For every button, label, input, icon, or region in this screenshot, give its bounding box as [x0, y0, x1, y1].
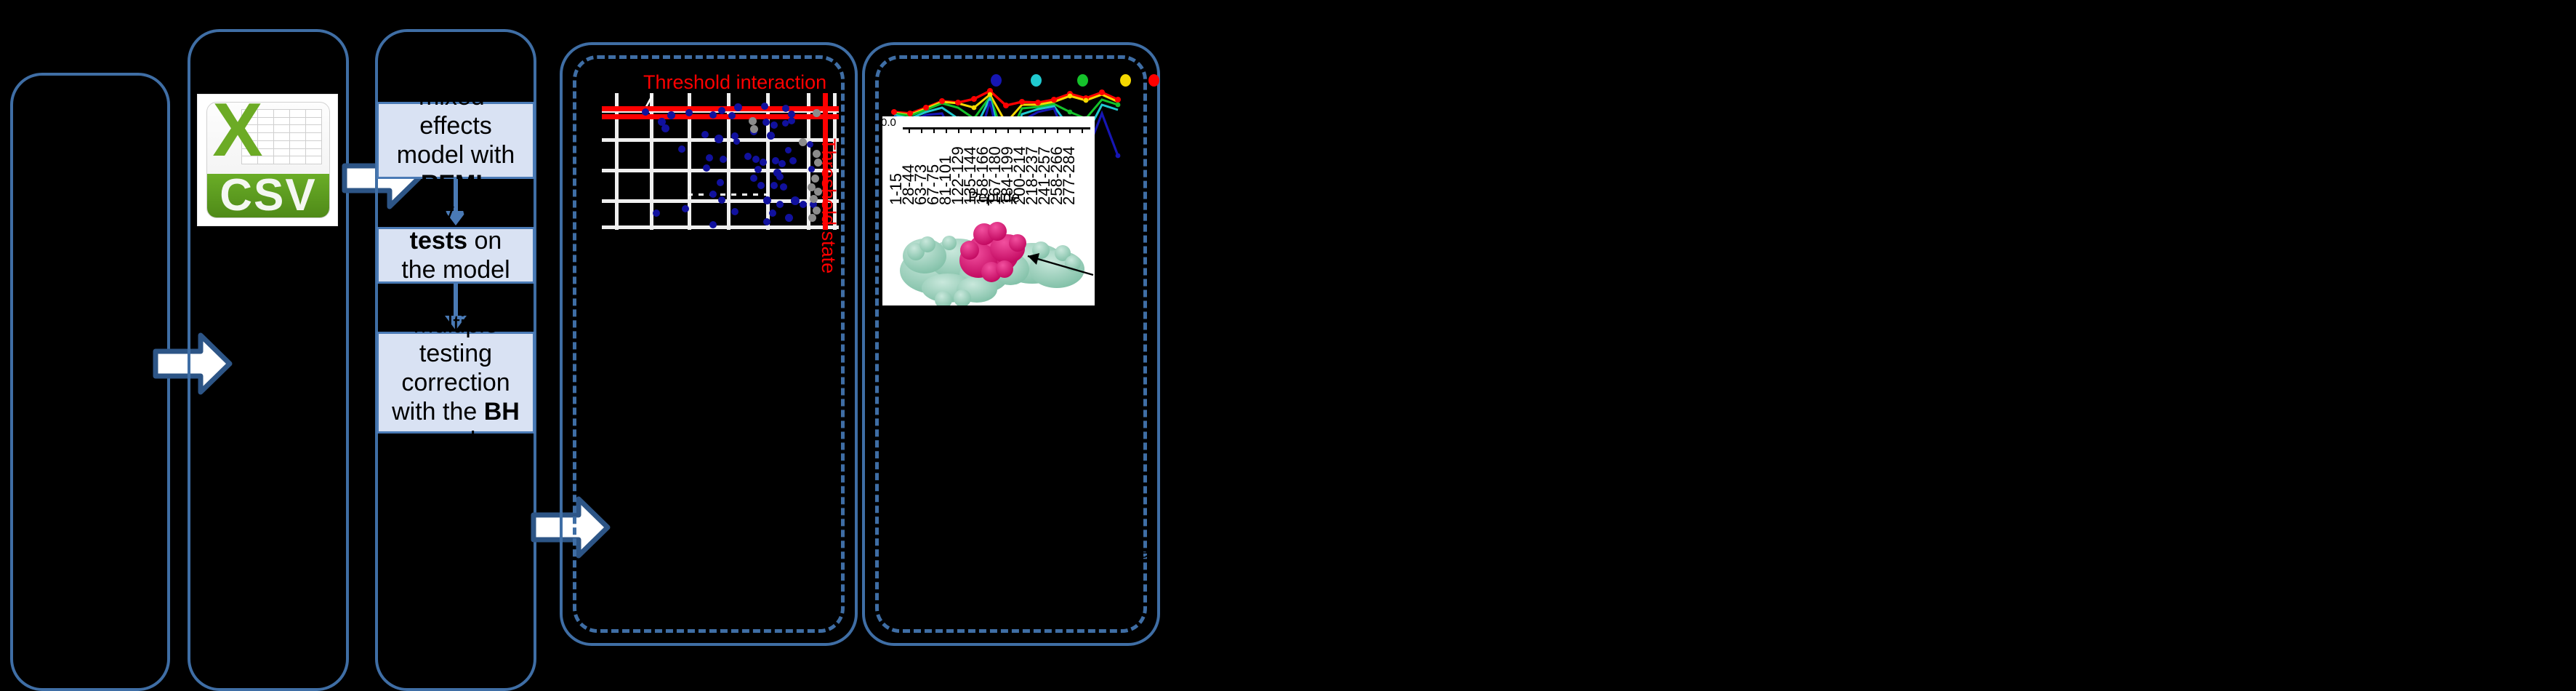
- excel-x-glyph: X: [212, 102, 264, 160]
- x-axis-tick: [970, 127, 972, 133]
- fit-model-line2: effects model with: [397, 112, 515, 169]
- scatter-point: [778, 160, 786, 167]
- box-multiple-testing[interactable]: Multiple testing correction with the BH …: [377, 332, 535, 434]
- mt-line2: correction: [401, 369, 510, 396]
- x-axis-tick: [1007, 127, 1009, 133]
- scatter-point-gray: [750, 125, 758, 133]
- threshold-state-label: Threshold state: [817, 138, 840, 273]
- scatter-point: [703, 164, 710, 172]
- scatter-point-gray: [808, 183, 816, 191]
- x-axis-tick: [921, 127, 922, 133]
- wald-prefix: Apply: [393, 198, 462, 225]
- peptide-structure-card: 0.0 1-15 28-44 63-73 67-75 81-101 122-12…: [882, 116, 1095, 305]
- scatter-point: [685, 109, 693, 116]
- binding-interface-annotation: Binding interface: [1082, 522, 1148, 562]
- scatter-point: [788, 117, 795, 124]
- wald-tail: on: [467, 227, 502, 255]
- scatter-point: [785, 214, 793, 222]
- scatter-point: [701, 131, 709, 138]
- x-axis-tick: [1082, 127, 1083, 133]
- csv-format-label: CSV: [220, 169, 316, 218]
- scatter-point: [776, 173, 784, 180]
- scatter-point: [789, 157, 797, 164]
- x-axis-line: [903, 127, 1090, 129]
- scatter-point: [763, 196, 771, 204]
- x-axis-title: Peptide: [968, 189, 1020, 207]
- legend-dot-red: [1148, 74, 1159, 87]
- scatter-point: [717, 179, 724, 186]
- x-axis-tick: [1032, 127, 1034, 133]
- x-axis-tick: [909, 127, 910, 133]
- scatter-point-gray: [749, 117, 757, 125]
- scatter-point: [715, 135, 723, 143]
- scatter-point: [728, 112, 736, 119]
- scatter-point: [800, 201, 807, 208]
- scatter-point: [709, 111, 717, 119]
- x-axis-tick: [995, 127, 997, 133]
- gridline-h: [602, 169, 839, 172]
- scatter-point-gray: [808, 214, 816, 222]
- scatter-point: [752, 156, 760, 163]
- x-axis-tick: [983, 127, 984, 133]
- scatter-point: [776, 201, 784, 208]
- legend-dot-blue: [991, 74, 1002, 87]
- scatter-point: [642, 108, 649, 116]
- scatter-point: [678, 145, 685, 153]
- x-axis-tick: [933, 127, 935, 133]
- scatter-point: [733, 138, 740, 145]
- scatter-point: [760, 159, 767, 166]
- fit-model-line1: Fit a linear mixed-: [398, 54, 514, 111]
- mt-emphasis: BH: [484, 398, 520, 426]
- threshold-interaction-label: Threshold interaction: [643, 71, 826, 94]
- scatter-point-gray: [799, 138, 807, 146]
- box-wald-tests[interactable]: Apply Wald tests on the model parameters: [377, 227, 535, 284]
- scatter-point: [718, 196, 725, 204]
- binding-interface-line2: interface: [1082, 543, 1148, 563]
- scatter-point: [718, 107, 725, 114]
- scatter-point: [770, 121, 778, 129]
- scatter-point: [750, 175, 757, 182]
- scatter-point: [785, 147, 792, 153]
- scatter-point: [667, 111, 675, 119]
- input-panel: [10, 73, 170, 691]
- threshold-interaction-line-2: [602, 114, 839, 119]
- scatter-point: [767, 132, 775, 140]
- csv-format-band: CSV: [207, 174, 329, 217]
- scatter-point: [762, 119, 770, 126]
- scatter-point: [761, 103, 768, 110]
- x-axis-tick: [1057, 127, 1058, 133]
- peptide-tick-label: 277-284: [1060, 146, 1079, 205]
- scatter-point: [720, 156, 727, 163]
- scatter-point: [757, 182, 765, 189]
- scatter-point: [791, 196, 800, 205]
- flow-diagram-canvas: X CSV Fit a linear mixed- effects model …: [0, 0, 2576, 687]
- legend-dot-green: [1077, 74, 1088, 87]
- scatter-point: [808, 166, 815, 172]
- scatter-point: [731, 208, 738, 215]
- scatter-point: [807, 141, 813, 148]
- scatter-point: [754, 166, 762, 173]
- mt-tail3: procedure: [400, 427, 511, 455]
- csv-file-card: X CSV: [198, 95, 337, 225]
- x-axis-tick: [1069, 127, 1071, 133]
- scatter-point: [770, 182, 778, 189]
- scatter-point: [780, 183, 787, 191]
- scatter-point-gray: [813, 109, 821, 117]
- x-axis-tick: [1045, 127, 1046, 133]
- mt-prefix3: with the: [392, 398, 484, 426]
- scatter-point: [763, 218, 770, 225]
- legend-dot-cyan: [1031, 74, 1042, 87]
- volcano-scatter-plot: [602, 93, 839, 230]
- protein-surface-structure: [882, 208, 1095, 305]
- box-fit-model[interactable]: Fit a linear mixed- effects model with R…: [377, 102, 535, 179]
- y-tick-label: 0.0: [882, 116, 896, 129]
- x-axis-tick: [958, 127, 959, 133]
- csv-file-icon: X CSV: [206, 102, 330, 218]
- scatter-point: [769, 209, 776, 217]
- scatter-point: [709, 221, 717, 228]
- scatter-point: [653, 209, 660, 217]
- scatter-point: [682, 205, 689, 212]
- mt-line1: Multiple testing: [413, 311, 498, 367]
- scatter-point: [706, 154, 713, 161]
- scatter-point: [734, 103, 742, 111]
- x-axis-tick: [946, 127, 947, 133]
- scatter-point: [661, 124, 669, 132]
- x-axis-tick: [1020, 127, 1021, 133]
- gridline-h: [602, 225, 839, 229]
- dashed-guide: [688, 193, 768, 196]
- legend-dot-yellow: [1120, 74, 1131, 87]
- scatter-point: [709, 191, 717, 198]
- scatter-point: [744, 153, 752, 160]
- binding-interface-line1: Binding: [1082, 522, 1148, 543]
